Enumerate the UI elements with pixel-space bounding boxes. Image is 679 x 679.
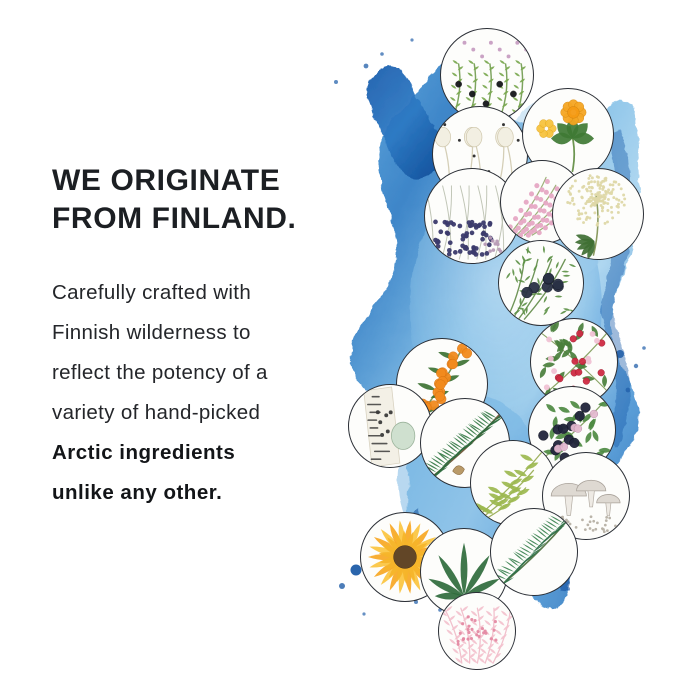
poster-canvas: WE ORIGINATE FROM FINLAND. Carefully cra… <box>0 0 679 679</box>
juniper-berry-illustration <box>499 241 583 325</box>
pink-algae-illustration <box>439 593 515 669</box>
body-line-4: variety of hand-picked <box>52 393 352 433</box>
ingredient-circle-pink-algae <box>438 592 516 670</box>
page-title: WE ORIGINATE FROM FINLAND. <box>52 162 352 239</box>
birch-bark-illustration <box>349 385 431 467</box>
ink-dot <box>642 346 646 350</box>
headline-line-1: WE ORIGINATE <box>52 162 352 200</box>
ink-dot <box>334 80 338 84</box>
body-line-1: Carefully crafted with <box>52 273 352 313</box>
body-line-6: unlike any other. <box>52 473 352 513</box>
meadowsweet-illustration <box>553 169 643 259</box>
ingredient-circle-spruce-sprig <box>490 508 578 596</box>
body-copy: Carefully crafted with Finnish wildernes… <box>52 273 352 513</box>
ingredient-circle-juniper-berry <box>498 240 584 326</box>
spruce-sprig-illustration <box>491 509 577 595</box>
ink-dot <box>634 364 638 368</box>
ink-dot <box>351 565 362 576</box>
ink-dot <box>626 388 631 393</box>
ink-dot <box>364 64 369 69</box>
copy-block: WE ORIGINATE FROM FINLAND. Carefully cra… <box>52 162 352 513</box>
ink-dot <box>380 52 384 56</box>
headline-line-2: FROM FINLAND. <box>52 200 352 238</box>
body-line-2: Finnish wilderness to <box>52 313 352 353</box>
ingredient-circle-meadowsweet <box>552 168 644 260</box>
ink-dot <box>339 583 345 589</box>
ingredient-circle-birch-bark <box>348 384 432 468</box>
body-line-3: reflect the potency of a <box>52 353 352 393</box>
ink-dot <box>362 612 365 615</box>
ink-dot <box>410 38 413 41</box>
body-line-5: Arctic ingredients <box>52 433 352 473</box>
